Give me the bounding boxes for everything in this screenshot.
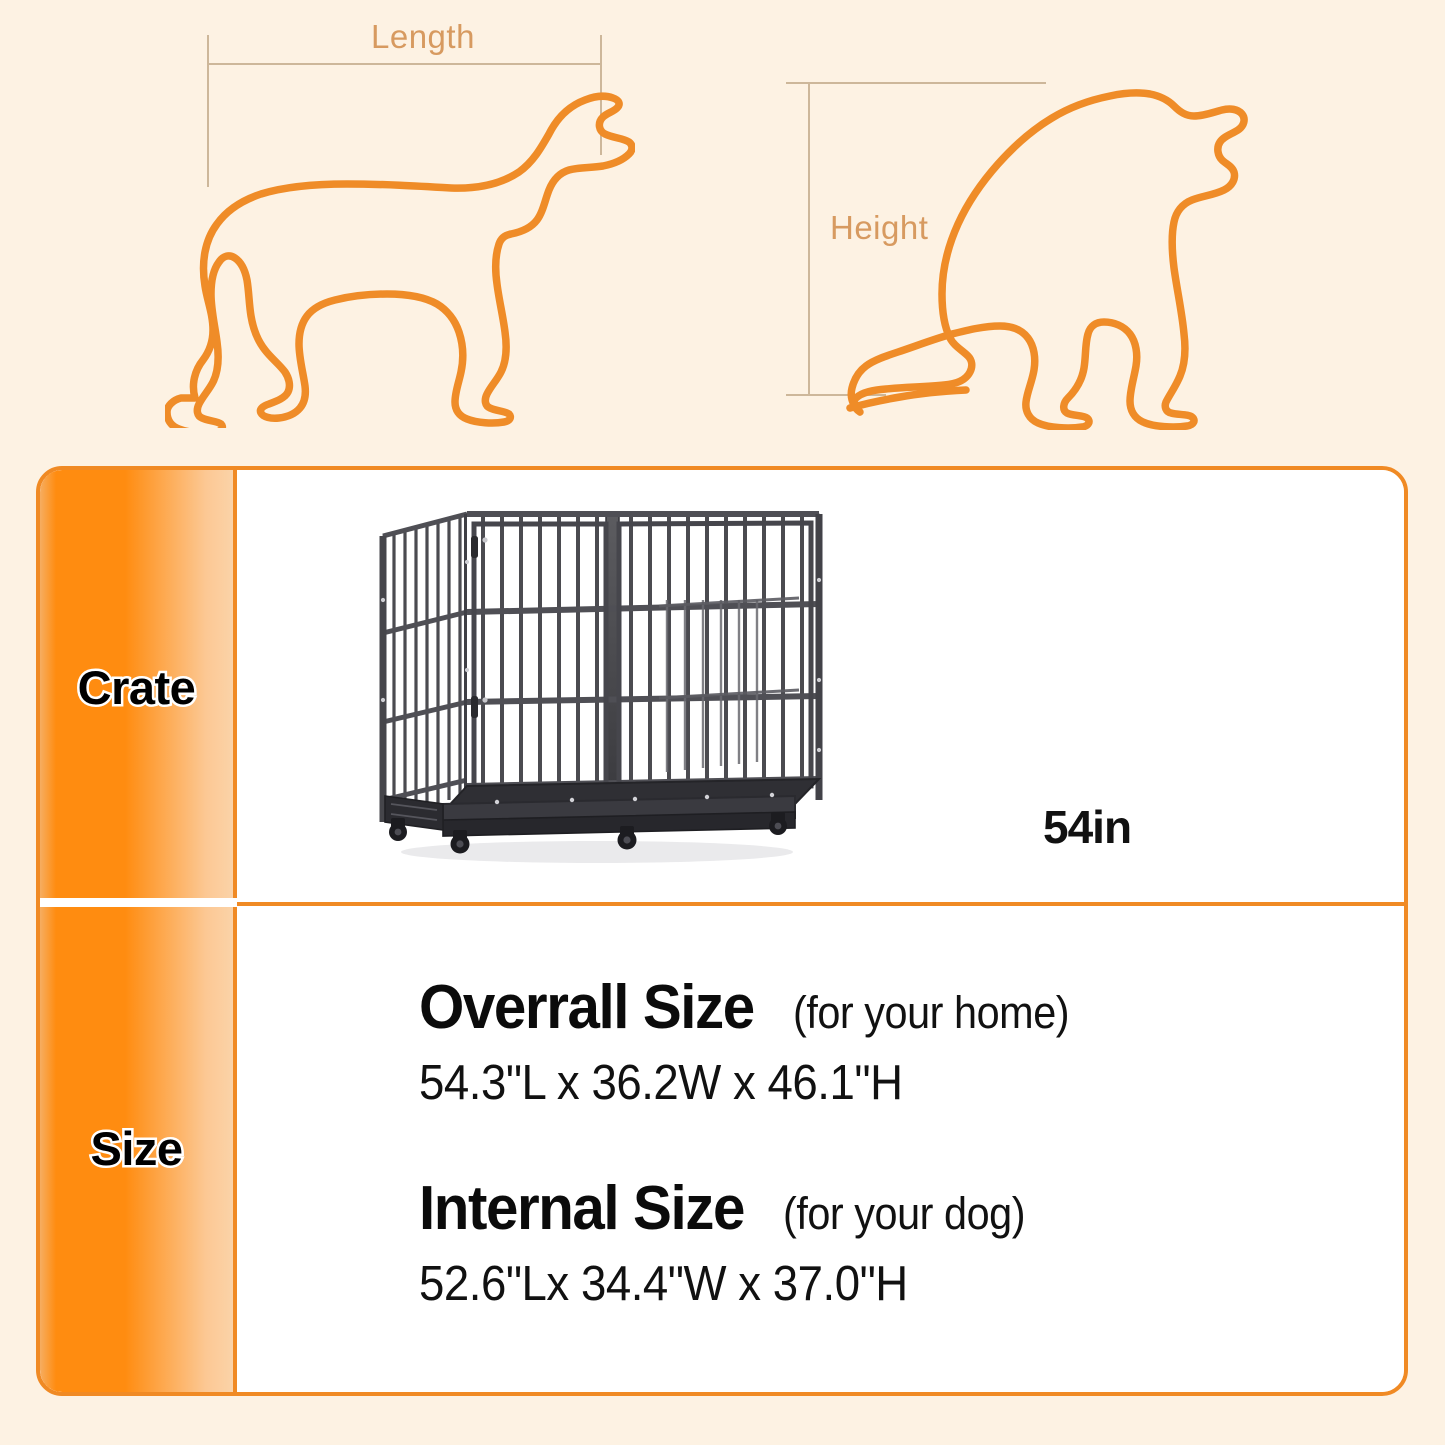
row-divider (40, 902, 1404, 906)
height-dimension-line (808, 82, 810, 396)
label-column-gap (40, 898, 237, 907)
crate-width-callout: 54in (1043, 800, 1131, 854)
table-row: Size Overrall Size (for your home) 54.3"… (40, 904, 1404, 1392)
overall-size-dimensions: 54.3"L x 36.2W x 46.1"H (419, 1055, 1313, 1111)
internal-size-note: (for your dog) (783, 1188, 1025, 1240)
size-row-label-text: Size (90, 1121, 182, 1176)
size-details-cell: Overrall Size (for your home) 54.3"L x 3… (237, 904, 1404, 1392)
internal-size-heading: Internal Size (419, 1173, 744, 1244)
internal-size-group: Internal Size (for your dog) 52.6"Lx 34.… (419, 1173, 1380, 1312)
crate-row-label-text: Crate (78, 660, 196, 715)
dog-standing-silhouette-icon (165, 48, 635, 428)
heavy-duty-dog-crate-icon (367, 500, 827, 870)
row-label-crate: Crate (40, 470, 237, 904)
internal-size-dimensions: 52.6"Lx 34.4"W x 37.0"H (419, 1256, 1313, 1312)
table-row: Crate (40, 470, 1404, 904)
dog-sitting-silhouette-icon (830, 60, 1250, 430)
overall-size-heading: Overrall Size (419, 972, 754, 1043)
dog-measurement-diagram: Length Height (0, 0, 1445, 455)
row-label-size: Size (40, 904, 237, 1392)
overall-size-group: Overrall Size (for your home) 54.3"L x 3… (419, 972, 1380, 1111)
crate-image-cell: 54in (237, 470, 1404, 904)
overall-size-note: (for your home) (793, 987, 1069, 1039)
specification-card: Crate (36, 466, 1408, 1396)
